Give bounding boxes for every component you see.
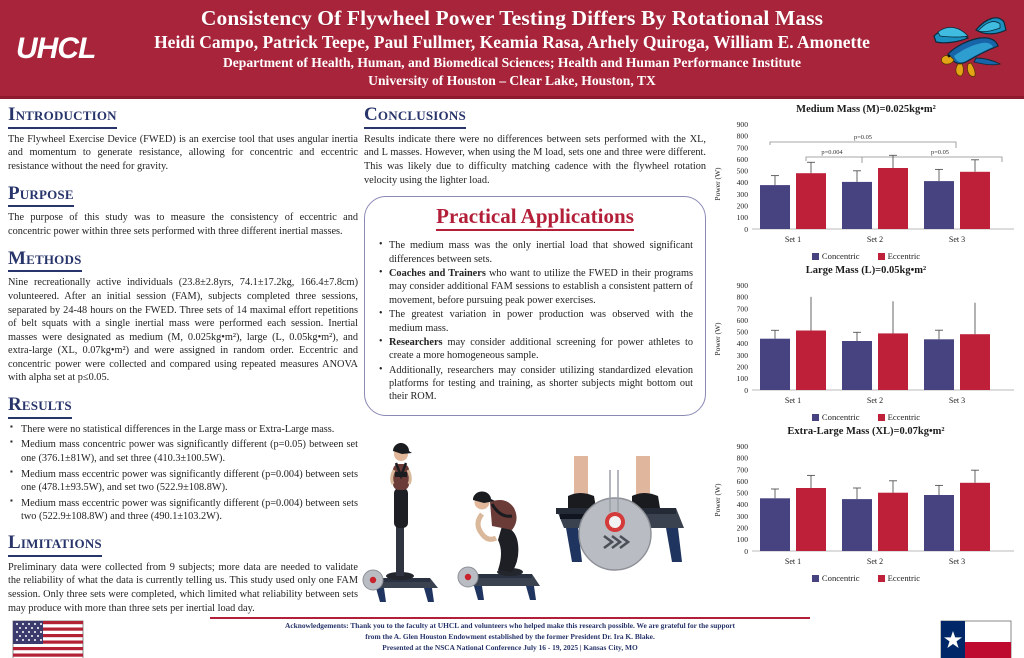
texas-flag-icon	[940, 620, 1012, 658]
svg-text:300: 300	[737, 512, 749, 521]
legend-label: Eccentric	[888, 412, 920, 422]
svg-text:500: 500	[737, 489, 749, 498]
y-axis-ticks: 900800700 600500400 300200100 0	[737, 281, 749, 395]
heading-practical-applications: Practical Applications	[436, 205, 634, 231]
legend-label: Concentric	[822, 412, 860, 422]
svg-text:900: 900	[737, 281, 749, 290]
practical-applications-list: The medium mass was the only inertial lo…	[377, 239, 693, 404]
svg-text:700: 700	[737, 465, 749, 474]
svg-text:100: 100	[737, 374, 749, 383]
svg-text:500: 500	[737, 167, 749, 176]
bar-group-set2	[842, 301, 908, 390]
legend-label: Eccentric	[888, 251, 920, 261]
p-value-label: p=0.004	[821, 149, 843, 156]
svg-text:200: 200	[737, 363, 749, 372]
x-axis-ticks: Set 1 Set 2 Set 3	[785, 557, 965, 566]
y-axis-label: Power (W)	[713, 483, 722, 517]
poster-canvas: UHCL Consistency Of Flywheel Power Testi…	[0, 0, 1024, 658]
bar-group-set3	[924, 470, 990, 551]
svg-text:300: 300	[737, 190, 749, 199]
legend-swatch	[878, 575, 885, 582]
chart-legend: Concentric Eccentric	[712, 573, 1020, 583]
chart-plot: Power (W) 900800700 600500400 300200100 …	[712, 438, 1020, 573]
athlete-squatting-photo	[458, 491, 540, 600]
bar-group-set1	[760, 475, 826, 551]
y-axis-label: Power (W)	[713, 322, 722, 356]
column-right-charts: Medium Mass (M)=0.025kg•m² Power (W) 900…	[712, 104, 1020, 585]
practical-applications-box: Practical Applications The medium mass w…	[364, 196, 706, 416]
footer-divider	[210, 617, 810, 619]
svg-text:Set 1: Set 1	[785, 396, 801, 405]
list-item: The medium mass was the only inertial lo…	[377, 239, 693, 266]
svg-text:900: 900	[737, 120, 749, 129]
column-left: Introduction The Flywheel Exercise Devic…	[8, 104, 358, 624]
y-axis-ticks: 900800700 600500400 300200100 0	[737, 120, 749, 234]
poster-header: UHCL Consistency Of Flywheel Power Testi…	[0, 0, 1024, 96]
legend-item-concentric: Concentric	[812, 251, 860, 261]
svg-text:800: 800	[737, 132, 749, 141]
bar-group-set1	[760, 297, 826, 390]
p-value-label: p=0.05	[931, 149, 949, 156]
svg-text:900: 900	[737, 442, 749, 451]
chart-title: Large Mass (L)=0.05kg•m²	[712, 265, 1020, 276]
legend-item-eccentric: Eccentric	[878, 412, 920, 422]
svg-text:400: 400	[737, 500, 749, 509]
svg-text:Set 2: Set 2	[867, 557, 883, 566]
x-axis-ticks: Set 1 Set 2 Set 3	[785, 235, 965, 244]
y-axis-label: Power (W)	[713, 167, 722, 201]
svg-text:Set 3: Set 3	[949, 557, 965, 566]
text-introduction: The Flywheel Exercise Device (FWED) is a…	[8, 133, 358, 174]
chart-legend: Concentric Eccentric	[712, 251, 1020, 261]
significance-brackets	[770, 142, 1002, 163]
flywheel-platform-closeup-photo	[556, 456, 684, 570]
svg-text:0: 0	[744, 547, 748, 556]
heading-purpose: Purpose	[8, 183, 74, 208]
svg-text:300: 300	[737, 351, 749, 360]
bullet-lead: Coaches and Trainers	[389, 268, 486, 279]
heading-results: Results	[8, 394, 72, 419]
legend-label: Concentric	[822, 251, 860, 261]
chart-extra-large-mass: Extra-Large Mass (XL)=0.07kg•m² Power (W…	[712, 426, 1020, 583]
text-methods: Nine recreationally active individuals (…	[8, 276, 358, 385]
legend-swatch	[878, 414, 885, 421]
bar-group-set3	[924, 303, 990, 390]
svg-text:Set 2: Set 2	[867, 235, 883, 244]
hawk-icon	[928, 6, 1010, 90]
list-item: Medium mass concentric power was signifi…	[8, 438, 358, 465]
us-flag-icon	[12, 620, 84, 658]
svg-text:100: 100	[737, 535, 749, 544]
svg-text:800: 800	[737, 454, 749, 463]
bar-group-set1	[760, 162, 826, 229]
svg-text:100: 100	[737, 213, 749, 222]
heading-introduction: Introduction	[8, 104, 117, 129]
svg-text:600: 600	[737, 316, 749, 325]
list-item: Researchers may consider additional scre…	[377, 336, 693, 363]
uhcl-logo: UHCL	[16, 32, 95, 66]
svg-text:800: 800	[737, 293, 749, 302]
text-conclusions: Results indicate there were no differenc…	[364, 133, 706, 187]
svg-text:500: 500	[737, 328, 749, 337]
legend-label: Eccentric	[888, 573, 920, 583]
svg-text:600: 600	[737, 477, 749, 486]
poster-department: Department of Health, Human, and Biomedi…	[120, 55, 904, 72]
y-axis-ticks: 900800700 600500400 300200100 0	[737, 442, 749, 556]
bar-group-set2	[842, 481, 908, 551]
p-value-label: p=0.05	[854, 134, 872, 141]
svg-text:400: 400	[737, 339, 749, 348]
conference-line: Presented at the NSCA National Conferenc…	[190, 642, 830, 653]
text-purpose: The purpose of this study was to measure…	[8, 211, 358, 238]
list-item: Medium mass eccentric power was signific…	[8, 497, 358, 524]
bar-group-set3	[924, 160, 990, 229]
chart-plot: Power (W) 900800700 600500400 300200100 …	[712, 277, 1020, 412]
poster-university: University of Houston – Clear Lake, Hous…	[120, 73, 904, 90]
heading-methods: Methods	[8, 248, 82, 273]
chart-title: Extra-Large Mass (XL)=0.07kg•m²	[712, 426, 1020, 437]
svg-text:400: 400	[737, 178, 749, 187]
acknowledgements: Acknowledgements: Thank you to the facul…	[190, 620, 830, 653]
chart-medium-mass: Medium Mass (M)=0.025kg•m² Power (W) 900…	[712, 104, 1020, 261]
chart-large-mass: Large Mass (L)=0.05kg•m² Power (W) 90080…	[712, 265, 1020, 422]
svg-text:Set 1: Set 1	[785, 235, 801, 244]
legend-item-concentric: Concentric	[812, 573, 860, 583]
acknowledgements-line-1: Acknowledgements: Thank you to the facul…	[190, 620, 830, 631]
list-item: Additionally, researchers may consider u…	[377, 364, 693, 404]
svg-text:Set 1: Set 1	[785, 557, 801, 566]
list-item: Medium mass eccentric power was signific…	[8, 468, 358, 495]
svg-text:Set 3: Set 3	[949, 396, 965, 405]
photo-group	[360, 430, 712, 610]
column-middle: Conclusions Results indicate there were …	[364, 104, 706, 416]
svg-text:Set 2: Set 2	[867, 396, 883, 405]
chart-title: Medium Mass (M)=0.025kg•m²	[712, 104, 1020, 115]
svg-text:700: 700	[737, 304, 749, 313]
legend-swatch	[812, 575, 819, 582]
list-item: Coaches and Trainers who want to utilize…	[377, 267, 693, 307]
bullet-text: Additionally, researchers may consider u…	[389, 365, 693, 403]
svg-text:700: 700	[737, 143, 749, 152]
chart-legend: Concentric Eccentric	[712, 412, 1020, 422]
legend-swatch	[878, 253, 885, 260]
bullet-text: The medium mass was the only inertial lo…	[389, 240, 693, 264]
text-limitations: Preliminary data were collected from 9 s…	[8, 561, 358, 615]
header-divider	[0, 96, 1024, 99]
athlete-standing-photo	[362, 443, 438, 602]
bar-group-set2	[842, 155, 908, 229]
poster-title: Consistency Of Flywheel Power Testing Di…	[120, 6, 904, 30]
heading-limitations: Limitations	[8, 532, 102, 557]
svg-text:0: 0	[744, 225, 748, 234]
list-item: The greatest variation in power producti…	[377, 308, 693, 335]
x-axis-ticks: Set 1 Set 2 Set 3	[785, 396, 965, 405]
list-item: There were no statistical differences in…	[8, 423, 358, 437]
svg-text:Set 3: Set 3	[949, 235, 965, 244]
bullet-lead: Researchers	[389, 337, 443, 348]
legend-label: Concentric	[822, 573, 860, 583]
legend-item-eccentric: Eccentric	[878, 573, 920, 583]
legend-item-concentric: Concentric	[812, 412, 860, 422]
legend-swatch	[812, 253, 819, 260]
poster-authors: Heidi Campo, Patrick Teepe, Paul Fullmer…	[120, 32, 904, 53]
bullet-text: The greatest variation in power producti…	[389, 309, 693, 333]
svg-text:600: 600	[737, 155, 749, 164]
chart-plot: Power (W) 900800700 600500400 300200100 …	[712, 116, 1020, 251]
legend-swatch	[812, 414, 819, 421]
legend-item-eccentric: Eccentric	[878, 251, 920, 261]
svg-text:0: 0	[744, 386, 748, 395]
acknowledgements-line-2: from the A. Glen Houston Endowment estab…	[190, 631, 830, 642]
svg-text:200: 200	[737, 202, 749, 211]
svg-text:200: 200	[737, 524, 749, 533]
heading-conclusions: Conclusions	[364, 104, 466, 129]
results-bullet-list: There were no statistical differences in…	[8, 423, 358, 524]
